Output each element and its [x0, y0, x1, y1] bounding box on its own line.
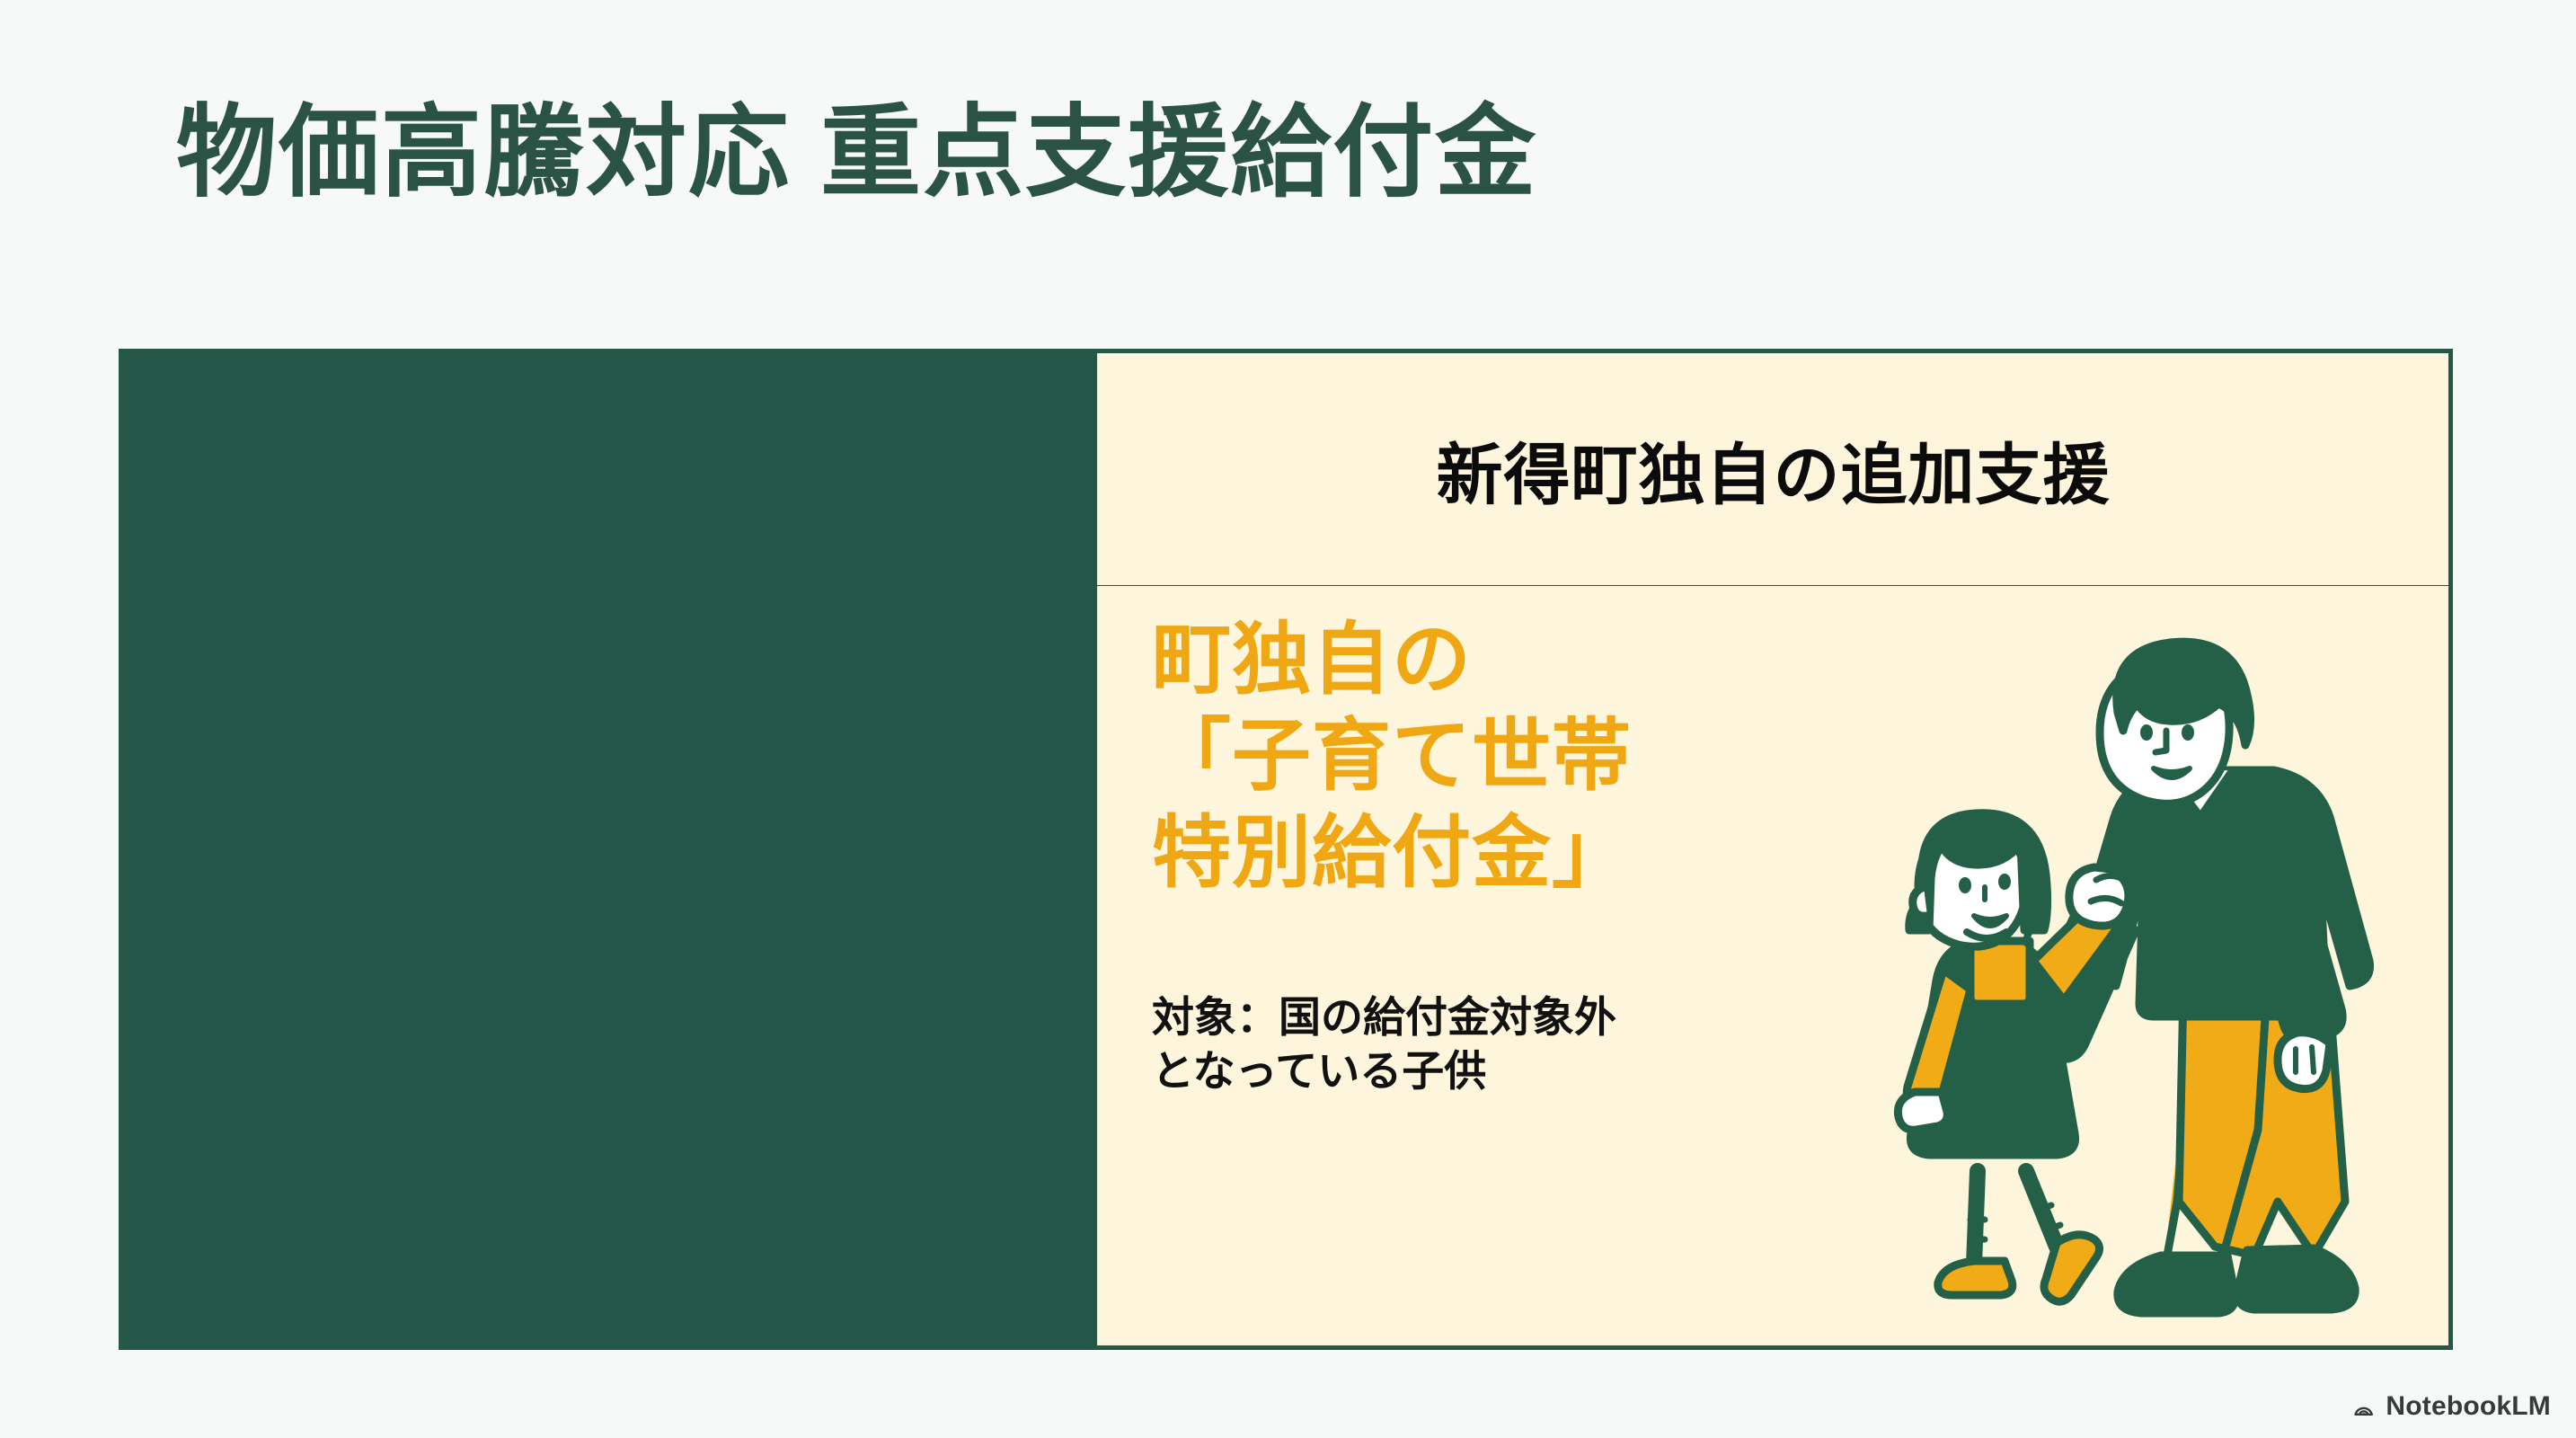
- table-header-cell-town: 新得町独自の追加支援: [1098, 353, 2448, 585]
- town-program-name-line-1: 町独自の: [1152, 611, 1632, 707]
- notebooklm-watermark-label: NotebookLM: [2386, 1391, 2551, 1422]
- comparison-table: 国の制度に基づく支援 新得町独自の追加支援 非課税世帯への給付 子供への加算給付…: [119, 349, 2453, 1350]
- page-title: 物価高騰対応 重点支援給付金: [176, 97, 1537, 208]
- town-program-name-line-3: 特別給付金」: [1152, 804, 1632, 901]
- notebooklm-watermark: NotebookLM: [2350, 1391, 2551, 1422]
- town-target-note: 対象：国の給付金対象外 となっている子供: [1152, 990, 1616, 1098]
- notebooklm-spiral-icon: [2350, 1393, 2377, 1420]
- town-program-name: 町独自の 「子育て世帯 特別給付金」: [1152, 611, 1632, 901]
- town-target-note-line-2: となっている子供: [1152, 1044, 1616, 1098]
- town-target-note-line-1: 対象：国の給付金対象外: [1152, 990, 1616, 1044]
- table-header-label-town: 新得町独自の追加支援: [1437, 422, 2111, 518]
- parent-and-child-walking-illustration: [1891, 626, 2448, 1345]
- table-column-divider: [123, 353, 128, 1345]
- town-program-name-line-2: 「子育て世帯: [1152, 707, 1632, 803]
- table-body-cell-town: 町独自の 「子育て世帯 特別給付金」 対象：国の給付金対象外 となっている子供: [1098, 586, 2448, 1345]
